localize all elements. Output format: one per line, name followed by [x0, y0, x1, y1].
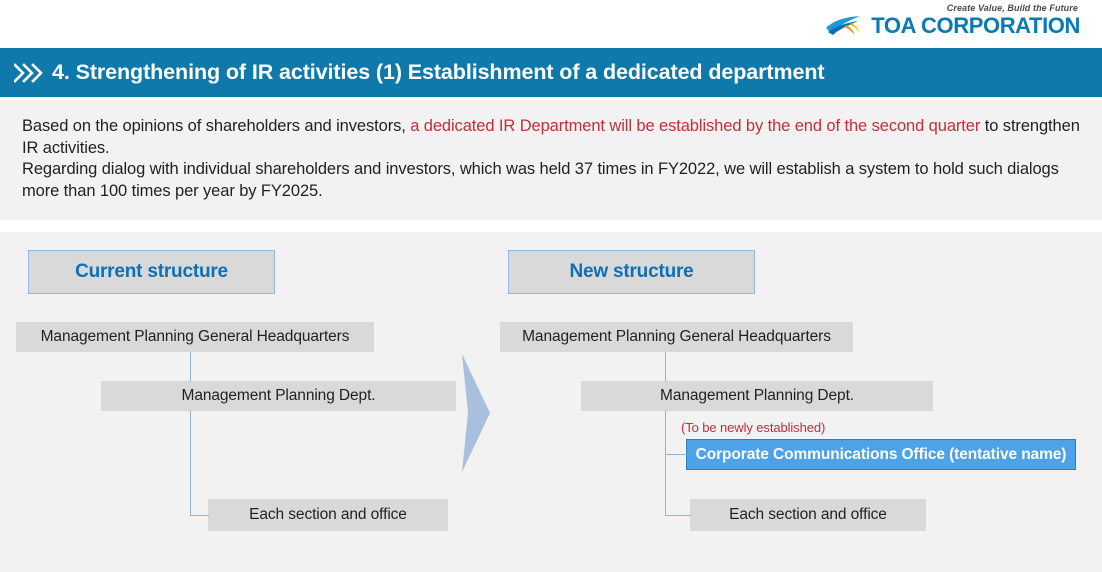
connector-current-dept-trunk — [190, 411, 191, 515]
current-node-planning-dept: Management Planning Dept. — [101, 381, 456, 411]
connector-new-hq-to-dept — [665, 352, 666, 381]
current-structure-heading: Current structure — [28, 250, 275, 294]
connector-new-dept-to-office — [665, 454, 687, 455]
new-node-headquarters: Management Planning General Headquarters — [500, 322, 853, 352]
new-node-corporate-communications-office: Corporate Communications Office (tentati… — [686, 439, 1076, 470]
brand-tagline: Create Value, Build the Future — [947, 3, 1078, 13]
connector-new-dept-trunk — [665, 411, 666, 515]
page-title: 4. Strengthening of IR activities (1) Es… — [52, 60, 824, 85]
new-node-planning-dept: Management Planning Dept. — [581, 381, 933, 411]
org-structure-diagram: Current structure Management Planning Ge… — [0, 232, 1102, 572]
brand-logo: Create Value, Build the Future TOA CORPO… — [824, 3, 1080, 38]
connector-new-dept-to-each — [665, 515, 691, 516]
current-node-each-section: Each section and office — [208, 499, 448, 531]
right-arrow-icon — [460, 354, 494, 472]
brand-logo-row: TOA CORPORATION — [824, 14, 1080, 38]
slide-title-bar: 4. Strengthening of IR activities (1) Es… — [0, 48, 1102, 97]
new-node-each-section: Each section and office — [690, 499, 926, 531]
paragraph-one: Based on the opinions of shareholders an… — [22, 116, 1082, 159]
logo-band: Create Value, Build the Future TOA CORPO… — [0, 0, 1102, 48]
brand-name: TOA CORPORATION — [871, 15, 1080, 37]
new-structure-heading: New structure — [508, 250, 755, 294]
triple-chevron-icon — [14, 63, 44, 83]
paragraph-two: Regarding dialog with individual shareho… — [22, 159, 1082, 202]
toa-bird-logo-icon — [824, 14, 864, 38]
connector-current-dept-to-each — [190, 515, 209, 516]
summary-text-block: Based on the opinions of shareholders an… — [0, 100, 1102, 220]
paragraph-one-highlight: a dedicated IR Department will be establ… — [410, 117, 980, 135]
connector-current-hq-to-dept — [190, 352, 191, 381]
paragraph-one-lead: Based on the opinions of shareholders an… — [22, 117, 410, 135]
current-node-headquarters: Management Planning General Headquarters — [16, 322, 374, 352]
new-establishment-note: (To be newly established) — [681, 420, 825, 435]
